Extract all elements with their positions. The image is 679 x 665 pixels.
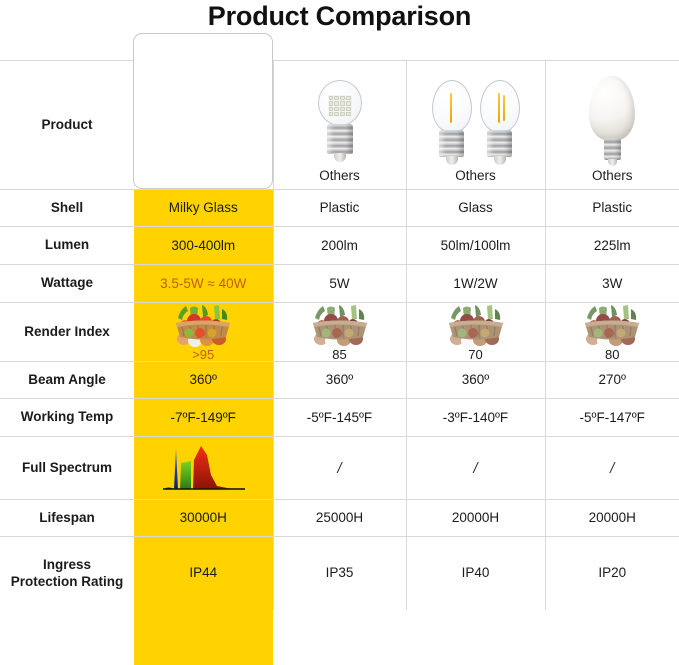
cell-ingress-other1: IP35 — [273, 537, 406, 610]
cell-product-other3: Others — [545, 61, 679, 190]
cell-full-spectrum-other3: / — [545, 437, 679, 500]
table-row-working-temp: Working Temp -7ºF-149ºF -5ºF-145ºF -3ºF-… — [0, 399, 679, 437]
clear-filament-bulb-icon — [432, 80, 472, 166]
cell-shell-ours: Milky Glass — [134, 190, 273, 227]
clear-filament-bulb-icon-2 — [480, 80, 520, 166]
value-ingress-other1: IP35 — [274, 564, 406, 582]
cell-shell-other2: Glass — [406, 190, 545, 227]
frosted-a60-bulb-icon — [589, 76, 635, 166]
cell-full-spectrum-other1: / — [273, 437, 406, 500]
value-wattage-other3: 3W — [546, 275, 679, 293]
cell-working-temp-other3: -5ºF-147ºF — [545, 399, 679, 437]
value-shell-other2: Glass — [407, 199, 545, 217]
cell-wattage-other2: 1W/2W — [406, 265, 545, 303]
vegetable-basket-icon — [170, 303, 236, 347]
cell-wattage-other3: 3W — [545, 265, 679, 303]
value-render-index-other2: 70 — [468, 348, 482, 361]
row-label-ingress-protection-text: IngressProtection Rating — [0, 556, 134, 591]
cell-beam-angle-other2: 360º — [406, 362, 545, 399]
value-ingress-other2: IP40 — [407, 564, 545, 582]
value-lifespan-other3: 20000H — [546, 509, 679, 527]
value-lifespan-ours: 30000H — [134, 509, 273, 527]
value-beam-angle-other2: 360º — [407, 371, 545, 389]
value-render-index-other3: 80 — [605, 348, 619, 361]
bulb-image-other3 — [589, 70, 635, 166]
cell-beam-angle-ours: 360º — [134, 362, 273, 399]
value-shell-ours: Milky Glass — [134, 199, 273, 217]
cell-lifespan-other2: 20000H — [406, 500, 545, 537]
row-label-beam-angle: Beam Angle — [0, 362, 134, 399]
table-row-beam-angle: Beam Angle 360º 360º 360º 270º — [0, 362, 679, 399]
cell-beam-angle-other1: 360º — [273, 362, 406, 399]
value-working-temp-other2: -3ºF-140ºF — [407, 409, 545, 427]
table-row-shell: Shell Milky Glass Plastic Glass Plastic — [0, 190, 679, 227]
cell-ingress-other2: IP40 — [406, 537, 545, 610]
cell-shell-other3: Plastic — [545, 190, 679, 227]
table-row-wattage: Wattage 3.5-5W ≈ 40W 5W 1W/2W 3W — [0, 265, 679, 303]
product-comparison-page: Product Comparison Product Ours — [0, 0, 679, 665]
value-shell-other3: Plastic — [546, 199, 679, 217]
row-label-ingress-protection: IngressProtection Rating — [0, 537, 134, 610]
value-wattage-other1: 5W — [274, 275, 406, 293]
value-ingress-other3: IP20 — [546, 564, 679, 582]
cell-beam-angle-other3: 270º — [545, 362, 679, 399]
spectrum-chart — [157, 443, 249, 493]
cell-wattage-ours: 3.5-5W ≈ 40W — [134, 265, 273, 303]
vegetable-basket-icon-muted-3 — [579, 303, 645, 347]
cell-lumen-ours: 300-400lm — [134, 227, 273, 265]
clear-globe-smd-bulb-icon — [318, 80, 362, 166]
cell-lumen-other2: 50lm/100lm — [406, 227, 545, 265]
row-label-render-index: Render Index — [0, 303, 134, 362]
cell-render-index-other3: 80 — [545, 303, 679, 362]
value-working-temp-ours: -7ºF-149ºF — [134, 409, 273, 427]
value-lifespan-other2: 20000H — [407, 509, 545, 527]
value-full-spectrum-other3: / — [610, 460, 614, 477]
row-label-product: Product — [0, 61, 134, 190]
value-wattage-other2: 1W/2W — [407, 275, 545, 293]
value-shell-other1: Plastic — [274, 199, 406, 217]
value-working-temp-other1: -5ºF-145ºF — [274, 409, 406, 427]
row-label-working-temp: Working Temp — [0, 399, 134, 437]
value-beam-angle-ours: 360º — [134, 371, 273, 389]
row-label-wattage: Wattage — [0, 265, 134, 303]
value-lumen-other3: 225lm — [546, 237, 679, 255]
value-wattage-ours: 3.5-5W ≈ 40W — [134, 275, 273, 293]
value-beam-angle-other1: 360º — [274, 371, 406, 389]
cell-render-index-ours: >95 — [134, 303, 273, 362]
cell-ingress-other3: IP20 — [545, 537, 679, 610]
bulb-image-other2 — [432, 70, 520, 166]
cell-product-other2: Others — [406, 61, 545, 190]
row-label-full-spectrum: Full Spectrum — [0, 437, 134, 500]
cell-working-temp-ours: -7ºF-149ºF — [134, 399, 273, 437]
value-lumen-ours: 300-400lm — [134, 237, 273, 255]
vegetable-basket-icon-muted-2 — [443, 303, 509, 347]
cell-ingress-ours: IP44 — [134, 537, 273, 610]
cell-full-spectrum-other2: / — [406, 437, 545, 500]
value-render-index-other1: 85 — [332, 348, 346, 361]
value-lumen-other2: 50lm/100lm — [407, 237, 545, 255]
cell-lifespan-ours: 30000H — [134, 500, 273, 537]
cell-render-index-other1: 85 — [273, 303, 406, 362]
cell-lumen-other3: 225lm — [545, 227, 679, 265]
row-label-lifespan: Lifespan — [0, 500, 134, 537]
value-working-temp-other3: -5ºF-147ºF — [546, 409, 679, 427]
table-row-lumen: Lumen 300-400lm 200lm 50lm/100lm 225lm — [0, 227, 679, 265]
table-row-full-spectrum: Full Spectrum — [0, 437, 679, 500]
comparison-table: Product Ours — [0, 60, 679, 610]
cell-working-temp-other2: -3ºF-140ºF — [406, 399, 545, 437]
product-label-other1: Others — [319, 168, 360, 183]
ours-highlight-card — [133, 33, 273, 189]
cell-lumen-other1: 200lm — [273, 227, 406, 265]
row-label-lumen: Lumen — [0, 227, 134, 265]
cell-lifespan-other3: 20000H — [545, 500, 679, 537]
cell-product-other1: Others — [273, 61, 406, 190]
vegetable-basket-icon-muted — [307, 303, 373, 347]
value-lifespan-other1: 25000H — [274, 509, 406, 527]
value-full-spectrum-other1: / — [337, 460, 341, 477]
cell-render-index-other2: 70 — [406, 303, 545, 362]
cell-working-temp-other1: -5ºF-145ºF — [273, 399, 406, 437]
value-lumen-other1: 200lm — [274, 237, 406, 255]
table-row-ingress-protection: IngressProtection Rating IP44 IP35 IP40 … — [0, 537, 679, 610]
table-row-lifespan: Lifespan 30000H 25000H 20000H 20000H — [0, 500, 679, 537]
value-render-index-ours: >95 — [192, 348, 214, 361]
cell-shell-other1: Plastic — [273, 190, 406, 227]
product-label-other3: Others — [592, 168, 633, 183]
page-title: Product Comparison — [0, 1, 679, 32]
value-beam-angle-other3: 270º — [546, 371, 679, 389]
row-label-shell: Shell — [0, 190, 134, 227]
table-row-product: Product Ours — [0, 61, 679, 190]
value-ingress-ours: IP44 — [134, 564, 273, 582]
cell-wattage-other1: 5W — [273, 265, 406, 303]
cell-lifespan-other1: 25000H — [273, 500, 406, 537]
product-label-other2: Others — [455, 168, 496, 183]
bulb-image-other1 — [318, 70, 362, 166]
cell-full-spectrum-ours — [134, 437, 273, 500]
table-row-render-index: Render Index — [0, 303, 679, 362]
value-full-spectrum-other2: / — [473, 460, 477, 477]
